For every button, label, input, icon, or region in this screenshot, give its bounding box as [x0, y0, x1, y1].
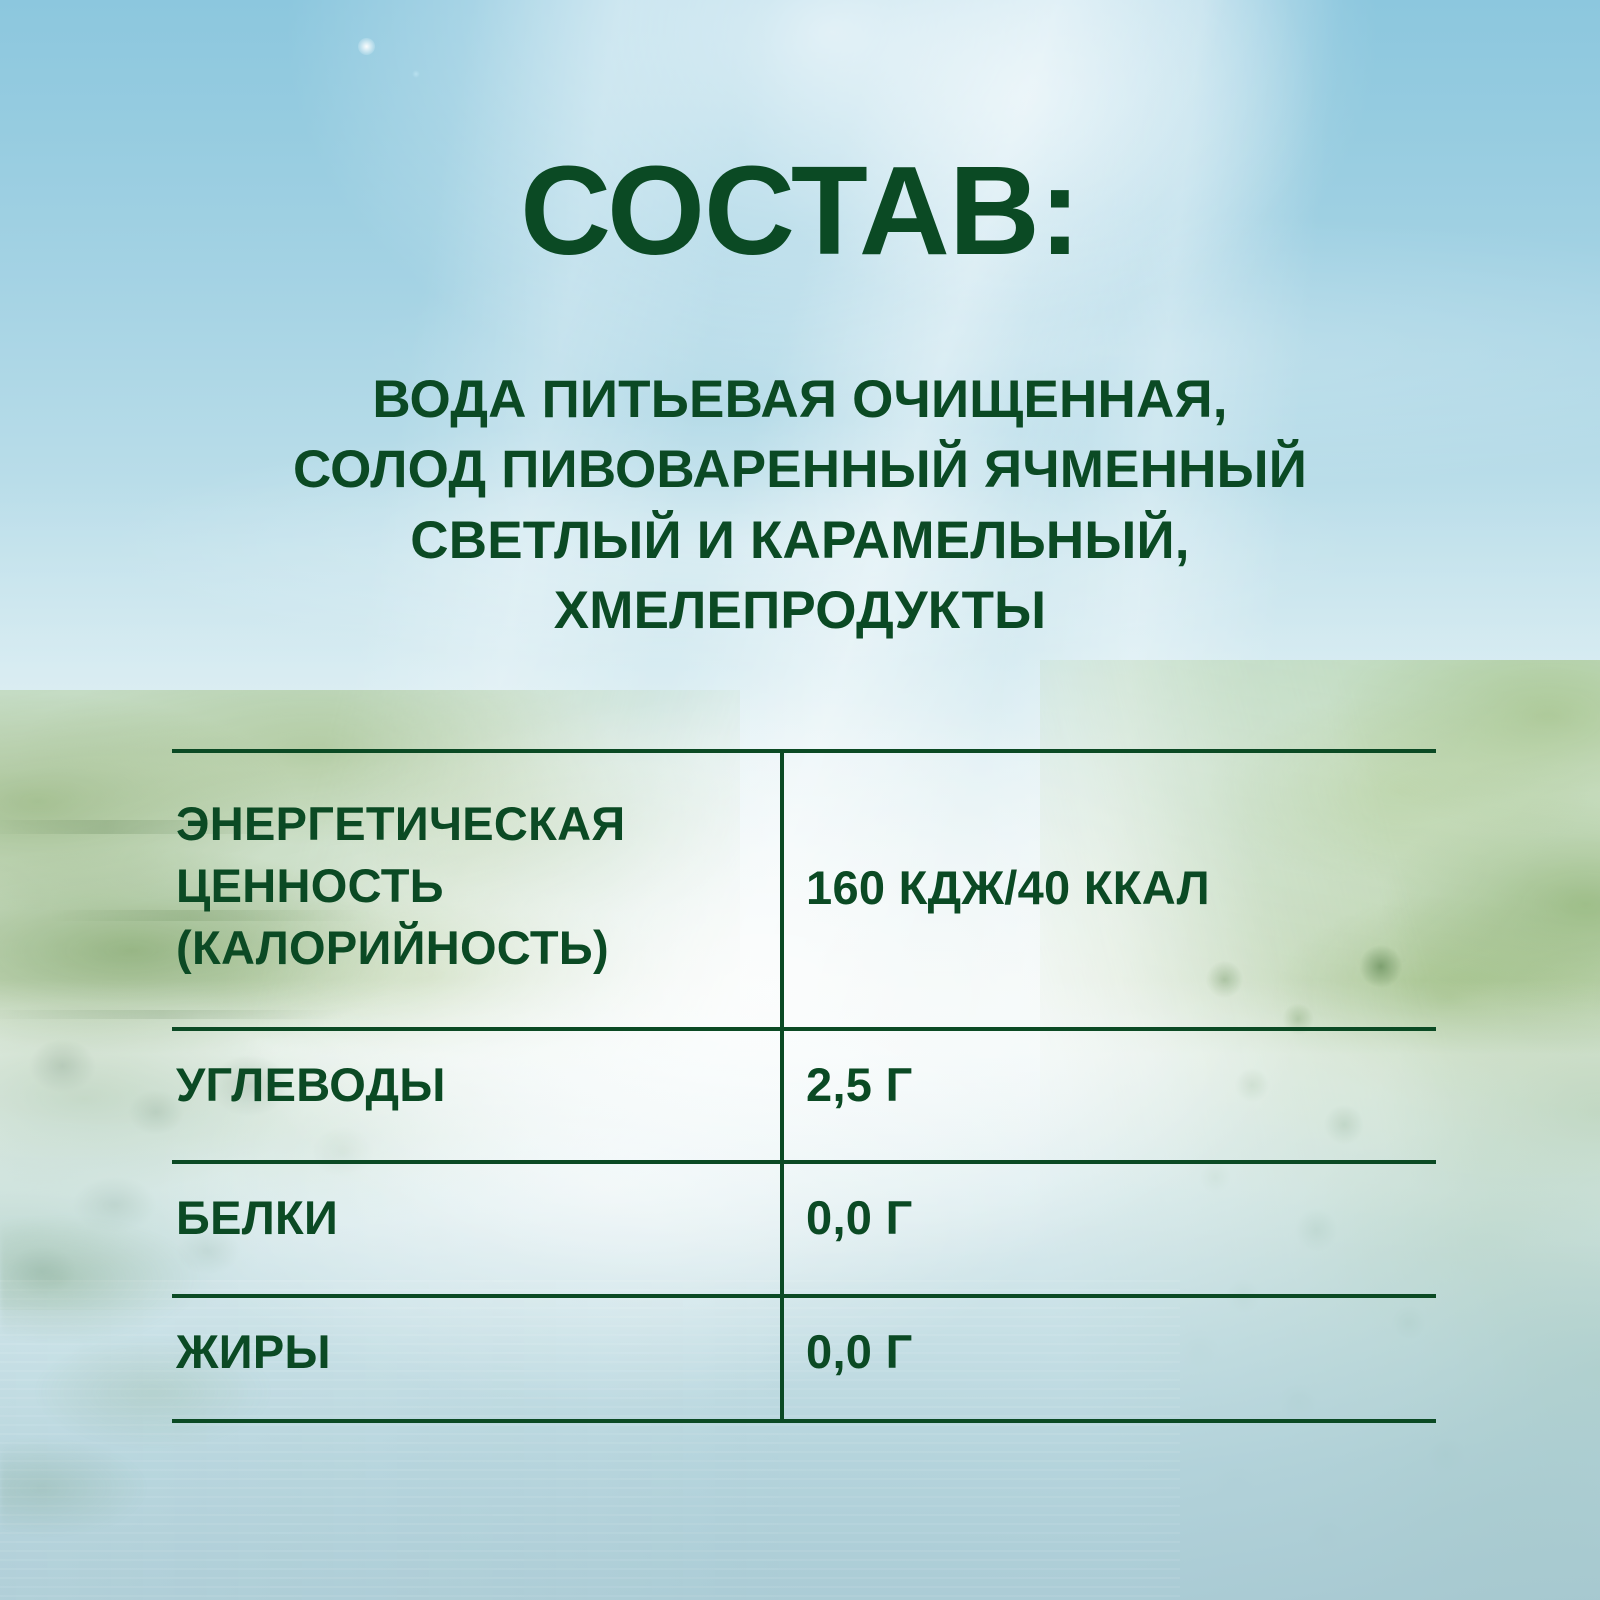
table-top-border	[172, 749, 1436, 753]
ingredients-line-2: СОЛОД ПИВОВАРЕННЫЙ ЯЧМЕННЫЙ	[140, 435, 1460, 505]
table-bottom-border	[172, 1419, 1436, 1423]
table-row-divider-2	[172, 1160, 1436, 1164]
nutrition-table: ЭНЕРГЕТИЧЕСКАЯ ЦЕННОСТЬ (КАЛОРИЙНОСТЬ) 1…	[172, 749, 1436, 1423]
ingredients-text: ВОДА ПИТЬЕВАЯ ОЧИЩЕННАЯ, СОЛОД ПИВОВАРЕН…	[140, 365, 1460, 647]
page-title: СОСТАВ:	[0, 148, 1600, 274]
table-column-divider	[780, 749, 784, 1423]
table-cell-value: 160 КДЖ/40 ККАЛ	[806, 857, 1426, 919]
product-composition-panel: СОСТАВ: ВОДА ПИТЬЕВАЯ ОЧИЩЕННАЯ, СОЛОД П…	[0, 0, 1600, 1600]
ingredients-line-1: ВОДА ПИТЬЕВАЯ ОЧИЩЕННАЯ,	[140, 365, 1460, 435]
energy-label-line-2: ЦЕННОСТЬ	[176, 855, 756, 917]
table-cell-value: 0,0 Г	[806, 1321, 1426, 1383]
ingredients-line-3: СВЕТЛЫЙ И КАРАМЕЛЬНЫЙ,	[140, 506, 1460, 576]
table-cell-label: БЕЛКИ	[176, 1187, 756, 1249]
composition-content: СОСТАВ: ВОДА ПИТЬЕВАЯ ОЧИЩЕННАЯ, СОЛОД П…	[0, 0, 1600, 1600]
table-row-divider-3	[172, 1294, 1436, 1298]
table-cell-label: ЭНЕРГЕТИЧЕСКАЯ ЦЕННОСТЬ (КАЛОРИЙНОСТЬ)	[176, 793, 756, 979]
table-row-divider-1	[172, 1027, 1436, 1031]
table-cell-label: УГЛЕВОДЫ	[176, 1054, 756, 1116]
energy-label-line-3: (КАЛОРИЙНОСТЬ)	[176, 917, 756, 979]
table-cell-value: 2,5 Г	[806, 1054, 1426, 1116]
energy-label-line-1: ЭНЕРГЕТИЧЕСКАЯ	[176, 793, 756, 855]
table-cell-label: ЖИРЫ	[176, 1321, 756, 1383]
table-cell-value: 0,0 Г	[806, 1187, 1426, 1249]
ingredients-line-4: ХМЕЛЕПРОДУКТЫ	[140, 576, 1460, 646]
